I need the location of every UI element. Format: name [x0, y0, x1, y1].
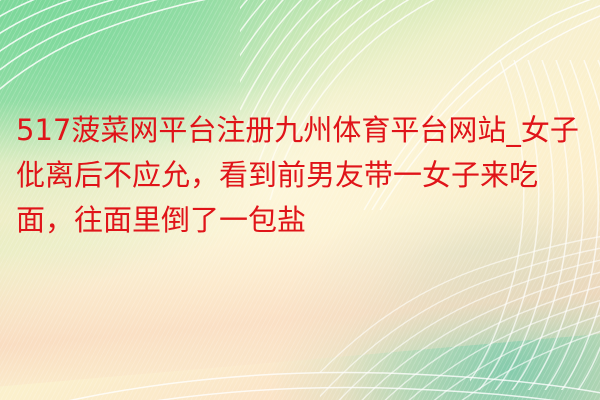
headline-text: 517菠菜网平台注册九州体育平台网站_女子仳离后不应允，看到前男友带一女子来吃面… [16, 108, 590, 243]
promo-banner: 517菠菜网平台注册九州体育平台网站_女子仳离后不应允，看到前男友带一女子来吃面… [0, 0, 600, 400]
